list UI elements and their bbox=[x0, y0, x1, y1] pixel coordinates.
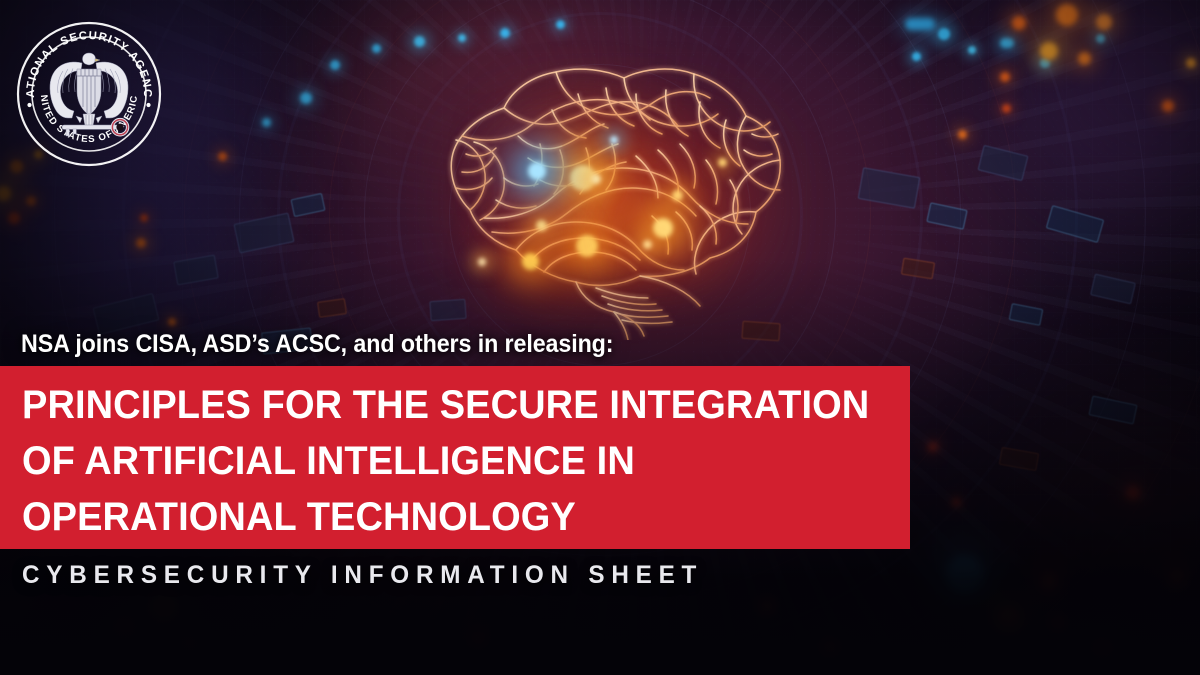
headline: PRINCIPLES FOR THE SECURE INTEGRATION OF… bbox=[22, 377, 912, 545]
nsa-seal: NATIONAL SECURITY AGENCY UNITED STATES O… bbox=[14, 19, 164, 169]
poster-canvas: NATIONAL SECURITY AGENCY UNITED STATES O… bbox=[0, 0, 1200, 675]
brain-node-glow bbox=[591, 174, 601, 184]
kicker-text: NSA joins CISA, ASD’s ACSC, and others i… bbox=[21, 330, 613, 359]
brain-node-glow-cool bbox=[610, 136, 618, 144]
brain-node-glow bbox=[576, 235, 598, 257]
brain-wireframe-icon bbox=[400, 40, 830, 340]
eagle-emblem bbox=[50, 53, 128, 129]
brain-node-glow bbox=[536, 220, 547, 231]
brain-node-glow bbox=[718, 158, 727, 167]
brain-node-glow bbox=[653, 218, 673, 238]
brain-node-glow bbox=[522, 253, 539, 270]
headline-line-2: OF ARTIFICIAL INTELLIGENCE IN bbox=[22, 433, 868, 489]
brain-node-glow bbox=[643, 240, 652, 249]
subhead-text: CYBERSECURITY INFORMATION SHEET bbox=[22, 561, 703, 590]
brain-artwork bbox=[400, 40, 830, 340]
brain-node-glow-cool bbox=[528, 162, 546, 180]
headline-line-1: PRINCIPLES FOR THE SECURE INTEGRATION bbox=[22, 377, 868, 433]
brain-glow bbox=[435, 75, 795, 305]
headline-line-3: OPERATIONAL TECHNOLOGY bbox=[22, 489, 868, 545]
brain-node-glow bbox=[570, 165, 596, 191]
brain-node-glow bbox=[672, 190, 683, 201]
brain-node-glow bbox=[478, 258, 486, 266]
